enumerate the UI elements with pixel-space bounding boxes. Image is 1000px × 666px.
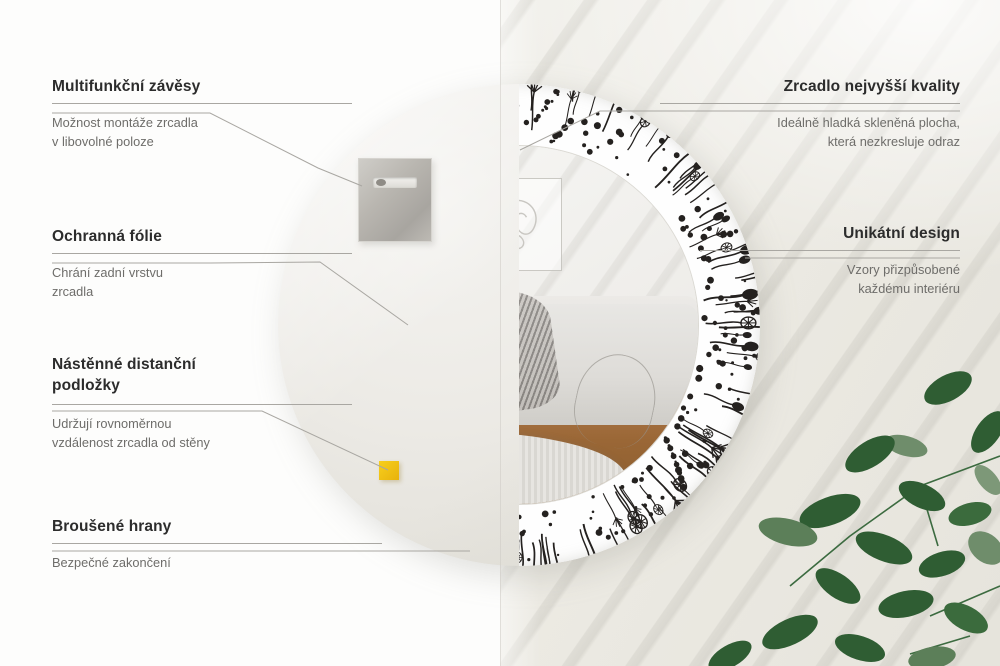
callout-title: Zrcadlo nejvyšší kvality bbox=[660, 78, 960, 96]
infographic-stage: Multifunkční závěsy Možnost montáže zrca… bbox=[0, 0, 1000, 666]
callout-unikatni-design: Unikátní design Vzory přizpůsobené každé… bbox=[700, 225, 960, 298]
callout-multifunkcni-zavesy: Multifunkční závěsy Možnost montáže zrca… bbox=[52, 78, 352, 151]
callout-rule bbox=[52, 543, 382, 544]
callout-rule bbox=[660, 103, 960, 104]
callout-body: Udržují rovnoměrnou vzdálenost zrcadla o… bbox=[52, 414, 352, 452]
callout-title: Broušené hrany bbox=[52, 518, 382, 536]
callout-body: Vzory přizpůsobené každému interiéru bbox=[700, 260, 960, 298]
callout-title: Nástěnné distanční podložky bbox=[52, 355, 352, 397]
callout-rule bbox=[52, 253, 352, 254]
callout-rule bbox=[52, 103, 352, 104]
callout-zrcadlo-nejvyssi-kvality: Zrcadlo nejvyšší kvality Ideálně hladká … bbox=[660, 78, 960, 151]
callout-body: Bezpečné zakončení bbox=[52, 553, 382, 572]
callout-nastenne-distancni-podlozky: Nástěnné distanční podložky Udržují rovn… bbox=[52, 355, 352, 452]
callout-title: Ochranná fólie bbox=[52, 228, 352, 246]
callout-body: Chrání zadní vrstvu zrcadla bbox=[52, 263, 352, 301]
callout-body: Možnost montáže zrcadla v libovolné polo… bbox=[52, 113, 352, 151]
callout-brousene-hrany: Broušené hrany Bezpečné zakončení bbox=[52, 518, 382, 572]
callout-rule bbox=[700, 250, 960, 251]
callout-title: Unikátní design bbox=[700, 225, 960, 243]
callout-title: Multifunkční závěsy bbox=[52, 78, 352, 96]
callout-body: Ideálně hladká skleněná plocha, která ne… bbox=[660, 113, 960, 151]
callout-rule bbox=[52, 404, 352, 405]
callout-ochranna-folie: Ochranná fólie Chrání zadní vrstvu zrcad… bbox=[52, 228, 352, 301]
decorative-plant bbox=[670, 336, 1000, 666]
